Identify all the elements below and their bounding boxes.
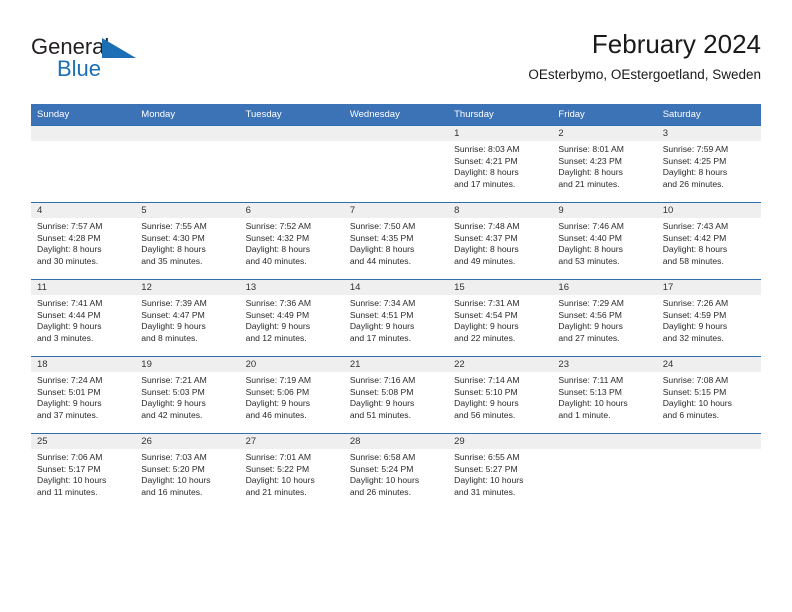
day-number: 24	[657, 357, 761, 372]
calendar-table: Sunday Monday Tuesday Wednesday Thursday…	[31, 104, 761, 510]
day-number: 16	[552, 280, 656, 295]
day-details: Sunrise: 7:39 AMSunset: 4:47 PMDaylight:…	[135, 295, 239, 344]
day-details: Sunrise: 7:43 AMSunset: 4:42 PMDaylight:…	[657, 218, 761, 267]
day-detail-line: Daylight: 9 hours	[663, 321, 757, 333]
day-detail-line: Daylight: 10 hours	[37, 475, 131, 487]
day-detail-line: and 11 minutes.	[37, 487, 131, 499]
day-details	[135, 141, 239, 144]
day-detail-line: and 32 minutes.	[663, 333, 757, 345]
calendar-day-cell-empty	[135, 126, 239, 203]
day-detail-line: and 21 minutes.	[558, 179, 652, 191]
calendar-day-cell-empty	[657, 434, 761, 511]
day-detail-line: Sunrise: 7:39 AM	[141, 298, 235, 310]
day-detail-line: and 8 minutes.	[141, 333, 235, 345]
day-detail-line: Sunset: 4:44 PM	[37, 310, 131, 322]
day-detail-line: Daylight: 9 hours	[141, 321, 235, 333]
day-detail-line: and 46 minutes.	[246, 410, 340, 422]
day-detail-line: Daylight: 10 hours	[246, 475, 340, 487]
day-number: 20	[240, 357, 344, 372]
day-number: 1	[448, 126, 552, 141]
day-number: 6	[240, 203, 344, 218]
day-details	[31, 141, 135, 144]
day-detail-line: Sunrise: 8:01 AM	[558, 144, 652, 156]
calendar-day-cell[interactable]: 10Sunrise: 7:43 AMSunset: 4:42 PMDayligh…	[657, 203, 761, 280]
day-detail-line: Sunset: 4:23 PM	[558, 156, 652, 168]
day-number: 10	[657, 203, 761, 218]
calendar-day-cell[interactable]: 22Sunrise: 7:14 AMSunset: 5:10 PMDayligh…	[448, 357, 552, 434]
day-details: Sunrise: 7:31 AMSunset: 4:54 PMDaylight:…	[448, 295, 552, 344]
day-detail-line: Sunset: 4:21 PM	[454, 156, 548, 168]
calendar-page: General Blue February 2024 OEsterbymo, O…	[0, 0, 792, 612]
calendar-week-row: 1Sunrise: 8:03 AMSunset: 4:21 PMDaylight…	[31, 126, 761, 203]
day-detail-line: Daylight: 8 hours	[663, 167, 757, 179]
logo-triangle-icon	[102, 38, 136, 58]
calendar-day-cell[interactable]: 4Sunrise: 7:57 AMSunset: 4:28 PMDaylight…	[31, 203, 135, 280]
day-number: 13	[240, 280, 344, 295]
day-detail-line: Sunset: 4:47 PM	[141, 310, 235, 322]
weekday-header-monday: Monday	[135, 104, 239, 126]
calendar-day-cell[interactable]: 17Sunrise: 7:26 AMSunset: 4:59 PMDayligh…	[657, 280, 761, 357]
day-detail-line: Sunset: 5:17 PM	[37, 464, 131, 476]
calendar-day-cell[interactable]: 20Sunrise: 7:19 AMSunset: 5:06 PMDayligh…	[240, 357, 344, 434]
day-detail-line: Daylight: 10 hours	[141, 475, 235, 487]
weekday-header-friday: Friday	[552, 104, 656, 126]
page-subtitle: OEsterbymo, OEstergoetland, Sweden	[528, 66, 761, 84]
day-detail-line: Sunset: 5:01 PM	[37, 387, 131, 399]
day-detail-line: Sunrise: 7:19 AM	[246, 375, 340, 387]
day-detail-line: and 42 minutes.	[141, 410, 235, 422]
day-number: 19	[135, 357, 239, 372]
day-detail-line: and 40 minutes.	[246, 256, 340, 268]
day-details: Sunrise: 6:58 AMSunset: 5:24 PMDaylight:…	[344, 449, 448, 498]
day-number: 17	[657, 280, 761, 295]
day-details: Sunrise: 7:14 AMSunset: 5:10 PMDaylight:…	[448, 372, 552, 421]
day-detail-line: Sunrise: 7:14 AM	[454, 375, 548, 387]
day-detail-line: Sunrise: 7:50 AM	[350, 221, 444, 233]
day-detail-line: Sunrise: 7:59 AM	[663, 144, 757, 156]
day-detail-line: Daylight: 9 hours	[454, 321, 548, 333]
day-number	[135, 126, 239, 141]
day-detail-line: Daylight: 8 hours	[141, 244, 235, 256]
calendar-day-cell[interactable]: 9Sunrise: 7:46 AMSunset: 4:40 PMDaylight…	[552, 203, 656, 280]
day-detail-line: Sunset: 5:13 PM	[558, 387, 652, 399]
day-detail-line: Sunrise: 6:58 AM	[350, 452, 444, 464]
day-detail-line: Sunset: 5:08 PM	[350, 387, 444, 399]
day-detail-line: Sunrise: 7:24 AM	[37, 375, 131, 387]
day-detail-line: Sunset: 4:51 PM	[350, 310, 444, 322]
day-details: Sunrise: 7:36 AMSunset: 4:49 PMDaylight:…	[240, 295, 344, 344]
day-detail-line: Daylight: 9 hours	[454, 398, 548, 410]
calendar-day-cell[interactable]: 15Sunrise: 7:31 AMSunset: 4:54 PMDayligh…	[448, 280, 552, 357]
day-details: Sunrise: 6:55 AMSunset: 5:27 PMDaylight:…	[448, 449, 552, 498]
day-details: Sunrise: 7:52 AMSunset: 4:32 PMDaylight:…	[240, 218, 344, 267]
day-detail-line: Sunrise: 7:36 AM	[246, 298, 340, 310]
calendar-day-cell[interactable]: 29Sunrise: 6:55 AMSunset: 5:27 PMDayligh…	[448, 434, 552, 511]
calendar-day-cell[interactable]: 24Sunrise: 7:08 AMSunset: 5:15 PMDayligh…	[657, 357, 761, 434]
calendar-day-cell[interactable]: 14Sunrise: 7:34 AMSunset: 4:51 PMDayligh…	[344, 280, 448, 357]
day-detail-line: Sunrise: 7:34 AM	[350, 298, 444, 310]
day-detail-line: Sunrise: 7:46 AM	[558, 221, 652, 233]
calendar-day-cell[interactable]: 5Sunrise: 7:55 AMSunset: 4:30 PMDaylight…	[135, 203, 239, 280]
day-detail-line: Daylight: 8 hours	[454, 244, 548, 256]
calendar-day-cell[interactable]: 19Sunrise: 7:21 AMSunset: 5:03 PMDayligh…	[135, 357, 239, 434]
day-number	[31, 126, 135, 141]
day-number: 14	[344, 280, 448, 295]
day-details: Sunrise: 7:34 AMSunset: 4:51 PMDaylight:…	[344, 295, 448, 344]
day-number	[657, 434, 761, 449]
day-detail-line: Sunrise: 7:26 AM	[663, 298, 757, 310]
day-number: 9	[552, 203, 656, 218]
day-detail-line: Sunset: 4:30 PM	[141, 233, 235, 245]
day-detail-line: Sunrise: 6:55 AM	[454, 452, 548, 464]
calendar-day-cell-empty	[552, 434, 656, 511]
day-detail-line: Sunset: 4:54 PM	[454, 310, 548, 322]
day-detail-line: Sunset: 5:03 PM	[141, 387, 235, 399]
day-detail-line: Daylight: 10 hours	[663, 398, 757, 410]
day-number	[552, 434, 656, 449]
calendar-week-row: 25Sunrise: 7:06 AMSunset: 5:17 PMDayligh…	[31, 434, 761, 511]
calendar-day-cell[interactable]: 21Sunrise: 7:16 AMSunset: 5:08 PMDayligh…	[344, 357, 448, 434]
day-detail-line: Daylight: 9 hours	[37, 398, 131, 410]
day-detail-line: and 49 minutes.	[454, 256, 548, 268]
day-detail-line: Sunrise: 7:55 AM	[141, 221, 235, 233]
day-details: Sunrise: 8:03 AMSunset: 4:21 PMDaylight:…	[448, 141, 552, 190]
day-number: 5	[135, 203, 239, 218]
day-details: Sunrise: 7:26 AMSunset: 4:59 PMDaylight:…	[657, 295, 761, 344]
day-detail-line: Sunset: 4:59 PM	[663, 310, 757, 322]
calendar-day-cell[interactable]: 6Sunrise: 7:52 AMSunset: 4:32 PMDaylight…	[240, 203, 344, 280]
day-details: Sunrise: 7:29 AMSunset: 4:56 PMDaylight:…	[552, 295, 656, 344]
day-details: Sunrise: 7:24 AMSunset: 5:01 PMDaylight:…	[31, 372, 135, 421]
day-detail-line: and 35 minutes.	[141, 256, 235, 268]
day-detail-line: Sunset: 5:10 PM	[454, 387, 548, 399]
day-detail-line: Sunset: 5:15 PM	[663, 387, 757, 399]
day-detail-line: Sunrise: 7:43 AM	[663, 221, 757, 233]
day-detail-line: Sunset: 5:24 PM	[350, 464, 444, 476]
day-detail-line: Sunrise: 7:29 AM	[558, 298, 652, 310]
day-number: 12	[135, 280, 239, 295]
calendar-day-cell[interactable]: 25Sunrise: 7:06 AMSunset: 5:17 PMDayligh…	[31, 434, 135, 511]
day-detail-line: Sunset: 4:35 PM	[350, 233, 444, 245]
day-details: Sunrise: 7:21 AMSunset: 5:03 PMDaylight:…	[135, 372, 239, 421]
day-details: Sunrise: 7:50 AMSunset: 4:35 PMDaylight:…	[344, 218, 448, 267]
day-details: Sunrise: 8:01 AMSunset: 4:23 PMDaylight:…	[552, 141, 656, 190]
weekday-header-wednesday: Wednesday	[344, 104, 448, 126]
day-detail-line: Sunrise: 7:57 AM	[37, 221, 131, 233]
day-detail-line: Daylight: 10 hours	[350, 475, 444, 487]
calendar-day-cell[interactable]: 26Sunrise: 7:03 AMSunset: 5:20 PMDayligh…	[135, 434, 239, 511]
day-detail-line: and 6 minutes.	[663, 410, 757, 422]
day-detail-line: Daylight: 9 hours	[350, 321, 444, 333]
day-detail-line: and 26 minutes.	[350, 487, 444, 499]
day-details	[552, 449, 656, 452]
day-details: Sunrise: 7:03 AMSunset: 5:20 PMDaylight:…	[135, 449, 239, 498]
day-detail-line: Daylight: 8 hours	[558, 244, 652, 256]
day-detail-line: and 3 minutes.	[37, 333, 131, 345]
calendar-day-cell[interactable]: 23Sunrise: 7:11 AMSunset: 5:13 PMDayligh…	[552, 357, 656, 434]
day-number: 23	[552, 357, 656, 372]
day-number	[344, 126, 448, 141]
day-detail-line: Sunset: 4:40 PM	[558, 233, 652, 245]
weekday-header-tuesday: Tuesday	[240, 104, 344, 126]
day-details: Sunrise: 7:57 AMSunset: 4:28 PMDaylight:…	[31, 218, 135, 267]
day-detail-line: and 1 minute.	[558, 410, 652, 422]
day-number: 4	[31, 203, 135, 218]
day-number: 21	[344, 357, 448, 372]
day-number: 2	[552, 126, 656, 141]
day-details	[240, 141, 344, 144]
calendar-day-cell-empty	[344, 126, 448, 203]
day-detail-line: and 37 minutes.	[37, 410, 131, 422]
day-details: Sunrise: 7:01 AMSunset: 5:22 PMDaylight:…	[240, 449, 344, 498]
day-details: Sunrise: 7:16 AMSunset: 5:08 PMDaylight:…	[344, 372, 448, 421]
day-details	[657, 449, 761, 452]
day-detail-line: and 56 minutes.	[454, 410, 548, 422]
calendar-day-cell[interactable]: 16Sunrise: 7:29 AMSunset: 4:56 PMDayligh…	[552, 280, 656, 357]
day-detail-line: Sunset: 5:22 PM	[246, 464, 340, 476]
weekday-header-saturday: Saturday	[657, 104, 761, 126]
day-details: Sunrise: 7:41 AMSunset: 4:44 PMDaylight:…	[31, 295, 135, 344]
title-block: February 2024 OEsterbymo, OEstergoetland…	[528, 28, 761, 84]
day-details: Sunrise: 7:08 AMSunset: 5:15 PMDaylight:…	[657, 372, 761, 421]
day-detail-line: and 26 minutes.	[663, 179, 757, 191]
day-detail-line: and 44 minutes.	[350, 256, 444, 268]
day-detail-line: Daylight: 9 hours	[350, 398, 444, 410]
day-number: 11	[31, 280, 135, 295]
day-detail-line: Daylight: 10 hours	[454, 475, 548, 487]
day-detail-line: Sunrise: 7:03 AM	[141, 452, 235, 464]
day-detail-line: and 30 minutes.	[37, 256, 131, 268]
calendar-day-cell[interactable]: 8Sunrise: 7:48 AMSunset: 4:37 PMDaylight…	[448, 203, 552, 280]
day-detail-line: Daylight: 9 hours	[558, 321, 652, 333]
day-detail-line: Sunset: 4:28 PM	[37, 233, 131, 245]
day-number: 8	[448, 203, 552, 218]
day-number: 3	[657, 126, 761, 141]
day-number: 15	[448, 280, 552, 295]
day-detail-line: Sunrise: 7:48 AM	[454, 221, 548, 233]
day-detail-line: Sunset: 4:37 PM	[454, 233, 548, 245]
day-detail-line: Sunset: 5:06 PM	[246, 387, 340, 399]
day-detail-line: Sunset: 4:56 PM	[558, 310, 652, 322]
day-detail-line: Sunrise: 7:21 AM	[141, 375, 235, 387]
day-detail-line: and 58 minutes.	[663, 256, 757, 268]
general-blue-logo: General Blue	[31, 34, 221, 90]
day-detail-line: Sunrise: 7:06 AM	[37, 452, 131, 464]
day-detail-line: Sunrise: 7:11 AM	[558, 375, 652, 387]
calendar-day-cell[interactable]: 28Sunrise: 6:58 AMSunset: 5:24 PMDayligh…	[344, 434, 448, 511]
day-detail-line: Sunrise: 7:31 AM	[454, 298, 548, 310]
day-detail-line: and 21 minutes.	[246, 487, 340, 499]
logo-text-blue: Blue	[57, 56, 101, 82]
calendar-body: 1Sunrise: 8:03 AMSunset: 4:21 PMDaylight…	[31, 126, 761, 511]
day-details: Sunrise: 7:06 AMSunset: 5:17 PMDaylight:…	[31, 449, 135, 498]
calendar-day-cell[interactable]: 3Sunrise: 7:59 AMSunset: 4:25 PMDaylight…	[657, 126, 761, 203]
calendar-week-row: 18Sunrise: 7:24 AMSunset: 5:01 PMDayligh…	[31, 357, 761, 434]
day-detail-line: and 16 minutes.	[141, 487, 235, 499]
day-details: Sunrise: 7:19 AMSunset: 5:06 PMDaylight:…	[240, 372, 344, 421]
calendar-day-cell[interactable]: 18Sunrise: 7:24 AMSunset: 5:01 PMDayligh…	[31, 357, 135, 434]
day-detail-line: and 17 minutes.	[454, 179, 548, 191]
day-details: Sunrise: 7:48 AMSunset: 4:37 PMDaylight:…	[448, 218, 552, 267]
calendar-day-cell[interactable]: 2Sunrise: 8:01 AMSunset: 4:23 PMDaylight…	[552, 126, 656, 203]
day-detail-line: Daylight: 9 hours	[37, 321, 131, 333]
day-detail-line: Daylight: 8 hours	[350, 244, 444, 256]
day-detail-line: and 53 minutes.	[558, 256, 652, 268]
day-detail-line: and 51 minutes.	[350, 410, 444, 422]
day-detail-line: and 31 minutes.	[454, 487, 548, 499]
calendar-week-row: 4Sunrise: 7:57 AMSunset: 4:28 PMDaylight…	[31, 203, 761, 280]
day-detail-line: and 22 minutes.	[454, 333, 548, 345]
day-details: Sunrise: 7:11 AMSunset: 5:13 PMDaylight:…	[552, 372, 656, 421]
weekday-header-thursday: Thursday	[448, 104, 552, 126]
calendar-header-row: Sunday Monday Tuesday Wednesday Thursday…	[31, 104, 761, 126]
calendar-day-cell-empty	[240, 126, 344, 203]
page-title: February 2024	[528, 28, 761, 60]
day-number: 18	[31, 357, 135, 372]
day-details: Sunrise: 7:55 AMSunset: 4:30 PMDaylight:…	[135, 218, 239, 267]
day-details	[344, 141, 448, 144]
calendar-week-row: 11Sunrise: 7:41 AMSunset: 4:44 PMDayligh…	[31, 280, 761, 357]
day-number: 28	[344, 434, 448, 449]
day-number: 29	[448, 434, 552, 449]
day-detail-line: and 27 minutes.	[558, 333, 652, 345]
day-detail-line: Sunset: 4:49 PM	[246, 310, 340, 322]
calendar-day-cell[interactable]: 27Sunrise: 7:01 AMSunset: 5:22 PMDayligh…	[240, 434, 344, 511]
day-detail-line: Sunset: 5:20 PM	[141, 464, 235, 476]
day-number: 26	[135, 434, 239, 449]
day-number: 27	[240, 434, 344, 449]
day-detail-line: Sunrise: 7:01 AM	[246, 452, 340, 464]
day-detail-line: Daylight: 8 hours	[663, 244, 757, 256]
day-detail-line: Sunrise: 7:52 AM	[246, 221, 340, 233]
calendar-day-cell-empty	[31, 126, 135, 203]
day-number: 25	[31, 434, 135, 449]
day-details: Sunrise: 7:59 AMSunset: 4:25 PMDaylight:…	[657, 141, 761, 190]
day-number: 22	[448, 357, 552, 372]
day-detail-line: Sunrise: 7:41 AM	[37, 298, 131, 310]
day-detail-line: and 17 minutes.	[350, 333, 444, 345]
day-detail-line: Sunset: 5:27 PM	[454, 464, 548, 476]
calendar-day-cell[interactable]: 13Sunrise: 7:36 AMSunset: 4:49 PMDayligh…	[240, 280, 344, 357]
day-number: 7	[344, 203, 448, 218]
weekday-header-sunday: Sunday	[31, 104, 135, 126]
page-header: General Blue February 2024 OEsterbymo, O…	[31, 28, 761, 98]
day-detail-line: Sunset: 4:42 PM	[663, 233, 757, 245]
calendar-day-cell[interactable]: 1Sunrise: 8:03 AMSunset: 4:21 PMDaylight…	[448, 126, 552, 203]
day-detail-line: Daylight: 10 hours	[558, 398, 652, 410]
day-detail-line: Daylight: 9 hours	[141, 398, 235, 410]
day-detail-line: Sunrise: 8:03 AM	[454, 144, 548, 156]
day-detail-line: Sunrise: 7:16 AM	[350, 375, 444, 387]
day-detail-line: Daylight: 8 hours	[246, 244, 340, 256]
day-number	[240, 126, 344, 141]
day-detail-line: Sunrise: 7:08 AM	[663, 375, 757, 387]
day-detail-line: Daylight: 8 hours	[454, 167, 548, 179]
day-detail-line: Daylight: 9 hours	[246, 398, 340, 410]
day-details: Sunrise: 7:46 AMSunset: 4:40 PMDaylight:…	[552, 218, 656, 267]
day-detail-line: Daylight: 8 hours	[37, 244, 131, 256]
day-detail-line: and 12 minutes.	[246, 333, 340, 345]
day-detail-line: Sunset: 4:25 PM	[663, 156, 757, 168]
day-detail-line: Daylight: 9 hours	[246, 321, 340, 333]
day-detail-line: Daylight: 8 hours	[558, 167, 652, 179]
calendar-day-cell[interactable]: 7Sunrise: 7:50 AMSunset: 4:35 PMDaylight…	[344, 203, 448, 280]
calendar-day-cell[interactable]: 12Sunrise: 7:39 AMSunset: 4:47 PMDayligh…	[135, 280, 239, 357]
calendar-day-cell[interactable]: 11Sunrise: 7:41 AMSunset: 4:44 PMDayligh…	[31, 280, 135, 357]
day-detail-line: Sunset: 4:32 PM	[246, 233, 340, 245]
